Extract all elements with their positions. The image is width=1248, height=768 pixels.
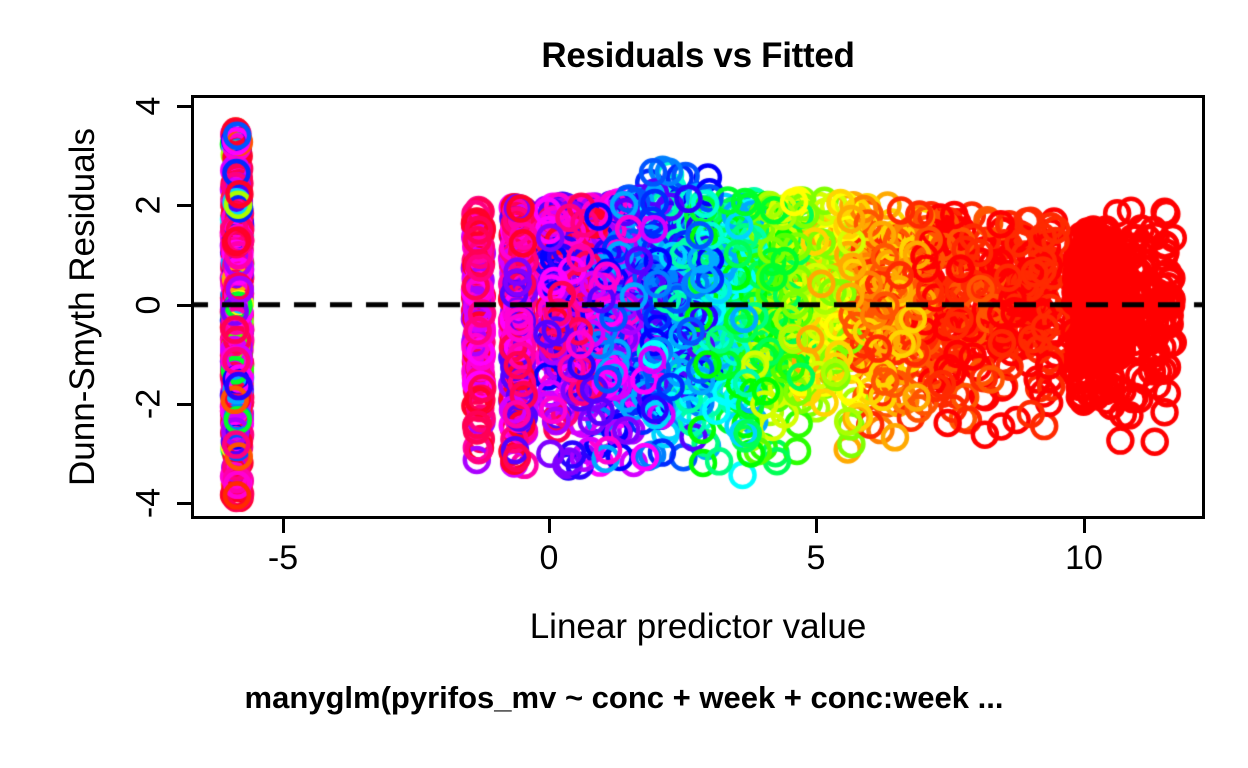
x-tick-mark: [815, 519, 818, 533]
y-tick-mark: [177, 403, 191, 406]
page-title: Residuals vs Fitted: [191, 36, 1205, 76]
plot-subtitle-formula: manyglm(pyrifos_mv ~ conc + week + conc:…: [0, 680, 1248, 716]
y-tick-label: 2: [130, 196, 169, 215]
scatter-points-layer: [194, 98, 1202, 516]
x-tick-label: 10: [1065, 539, 1103, 578]
y-tick-mark: [177, 204, 191, 207]
y-tick-label: -4: [130, 488, 169, 518]
r-diagnostic-plot: Residuals vs Fitted Dunn-Smyth Residuals…: [0, 0, 1248, 768]
x-tick-label: 0: [540, 539, 559, 578]
x-tick-mark: [282, 519, 285, 533]
x-tick-mark: [1083, 519, 1086, 533]
y-tick-label: 0: [130, 296, 169, 315]
y-tick-mark: [177, 502, 191, 505]
plot-panel: [191, 95, 1205, 519]
y-tick-label: -2: [130, 389, 169, 419]
y-axis-label: Dunn-Smyth Residuals: [58, 95, 108, 519]
x-tick-mark: [548, 519, 551, 533]
x-axis-label: Linear predictor value: [191, 607, 1205, 647]
y-tick-mark: [177, 304, 191, 307]
x-tick-label: 5: [807, 539, 826, 578]
y-tick-label: 4: [130, 97, 169, 116]
x-tick-label: -5: [268, 539, 298, 578]
y-tick-mark: [177, 105, 191, 108]
